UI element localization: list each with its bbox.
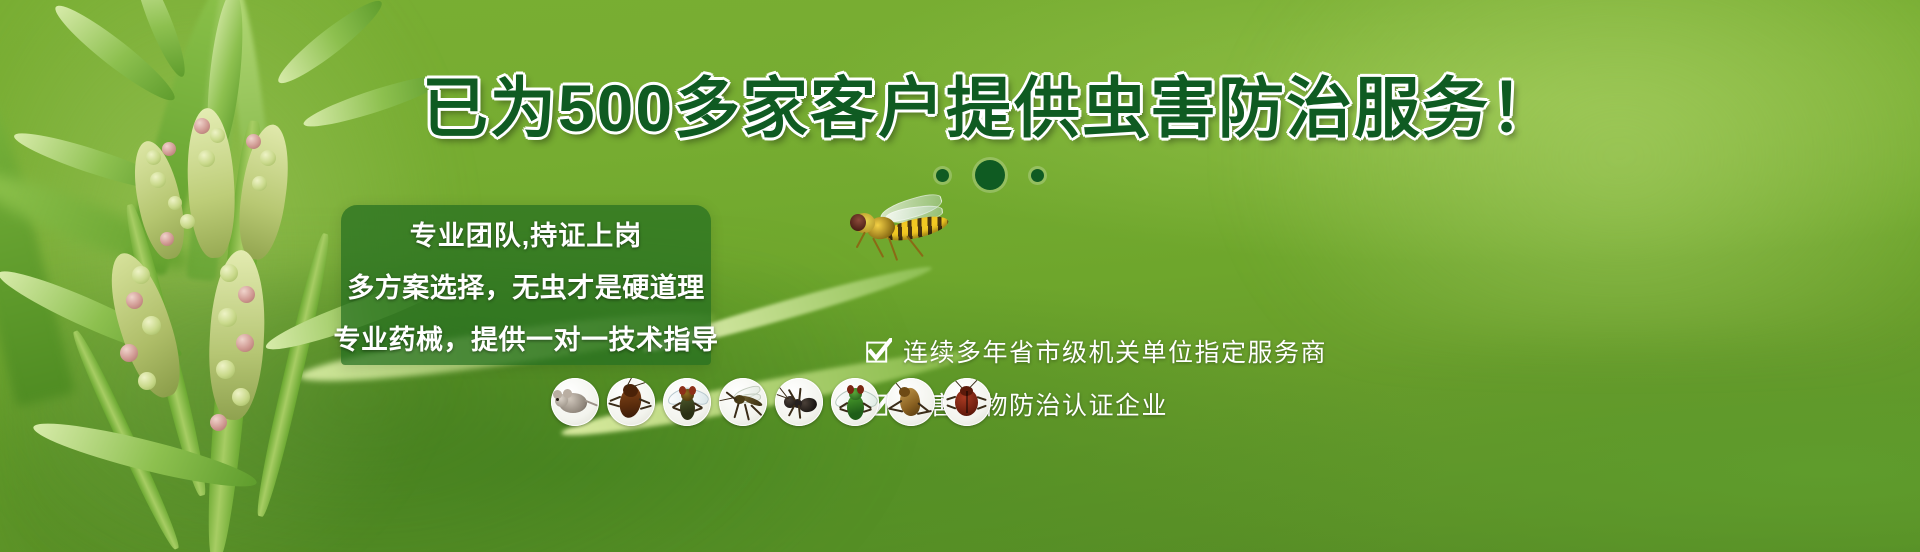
mosquito-icon[interactable]: [719, 378, 767, 426]
selling-points-panel: 专业团队,持证上岗 多方案选择，无虫才是硬道理 专业药械，提供一对一技术指导: [341, 205, 711, 365]
flea-icon[interactable]: [887, 378, 935, 426]
decorative-dots: [0, 160, 1920, 190]
panel-line-3: 专业药械，提供一对一技术指导: [334, 318, 719, 357]
list-item: 连续多年省市级机关单位指定服务商: [866, 333, 1327, 369]
hoverfly-illustration: [845, 195, 960, 255]
promo-banner: 已为500多家客户提供虫害防治服务！ 专业团队,持证上岗 多方案选择，无虫才是硬…: [0, 0, 1920, 552]
banner-headline: 已为500多家客户提供虫害防治服务！: [0, 72, 1920, 144]
ant-icon[interactable]: [775, 378, 823, 426]
panel-line-1: 专业团队,持证上岗: [410, 214, 643, 253]
cockroach-icon[interactable]: [607, 378, 655, 426]
panel-line-2: 多方案选择，无虫才是硬道理: [347, 266, 705, 305]
dot-small-right-icon: [1031, 169, 1044, 182]
bedbug-icon[interactable]: [943, 378, 991, 426]
dot-large-center-icon: [975, 160, 1005, 190]
dot-small-left-icon: [936, 169, 949, 182]
checkbox-checked-icon: [866, 338, 892, 364]
fly-icon[interactable]: [663, 378, 711, 426]
mouse-icon[interactable]: [551, 378, 599, 426]
checklist-label: 连续多年省市级机关单位指定服务商: [903, 333, 1327, 369]
blowfly-icon[interactable]: [831, 378, 879, 426]
pest-icon-strip: [551, 378, 991, 426]
